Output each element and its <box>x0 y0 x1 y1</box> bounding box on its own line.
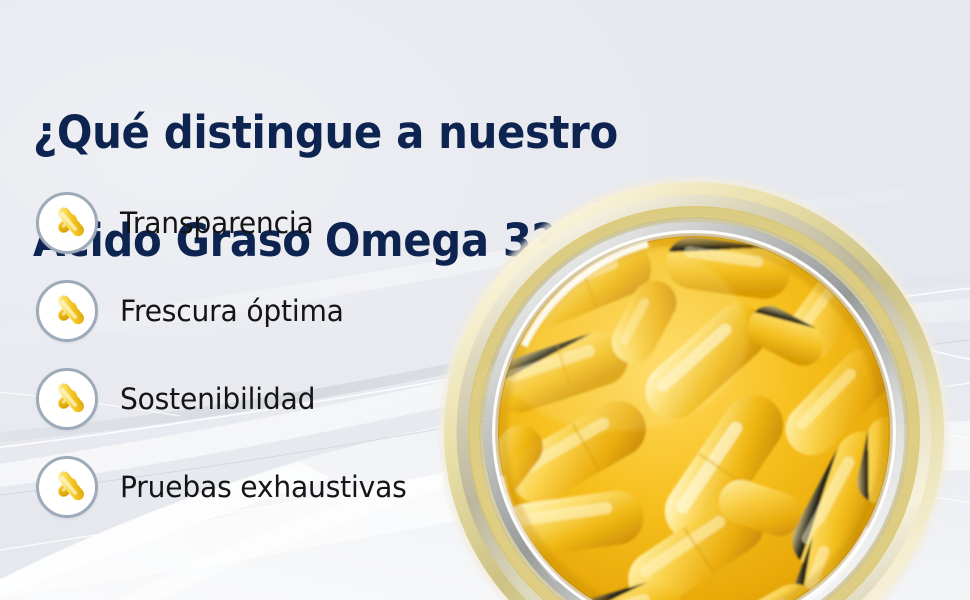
benefit-label: Frescura óptima <box>120 294 344 328</box>
list-item: Sostenibilidad <box>36 364 466 434</box>
list-item: Transparencia <box>36 188 466 258</box>
omega3-benefits-banner: ¿Qué distingue a nuestro Ácido Graso Ome… <box>0 0 970 600</box>
benefits-list: Transparencia Frescura óptima <box>36 188 466 540</box>
list-item: Frescura óptima <box>36 276 466 346</box>
benefit-label: Transparencia <box>120 206 314 240</box>
list-item: Pruebas exhaustivas <box>36 452 466 522</box>
capsule-check-icon <box>36 456 98 518</box>
benefit-label: Pruebas exhaustivas <box>120 470 407 504</box>
benefit-label: Sostenibilidad <box>120 382 315 416</box>
capsule-check-icon <box>36 280 98 342</box>
capsule-check-icon <box>36 368 98 430</box>
page-title-line-1: ¿Qué distingue a nuestro <box>33 106 628 160</box>
capsule-check-icon <box>36 192 98 254</box>
